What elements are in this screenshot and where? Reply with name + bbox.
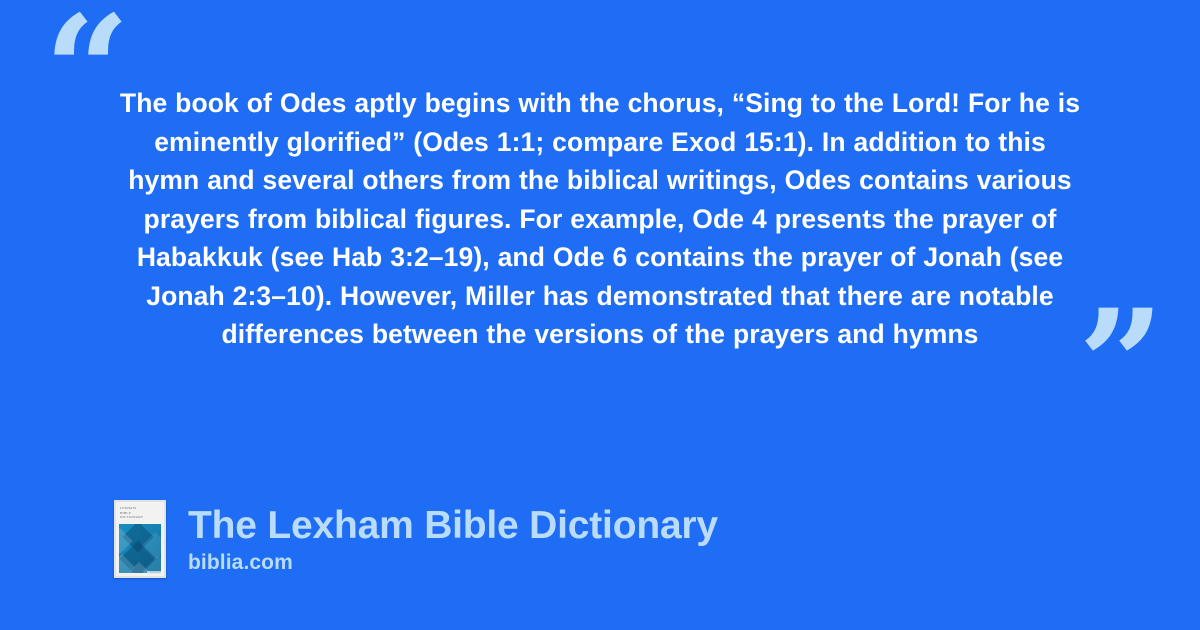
site-url: biblia.com xyxy=(188,550,718,576)
footer-text-group: The Lexham Bible Dictionary biblia.com xyxy=(188,500,718,576)
footer-branding: Lexham Bible Dictionary The Lexham Bible… xyxy=(114,500,718,578)
quote-text: The book of Odes aptly begins with the c… xyxy=(118,84,1082,354)
book-cover-title-text: Lexham Bible Dictionary xyxy=(120,506,160,520)
publication-title: The Lexham Bible Dictionary xyxy=(188,504,718,548)
quote-card: “ The book of Odes aptly begins with the… xyxy=(0,0,1200,630)
quote-block: The book of Odes aptly begins with the c… xyxy=(118,84,1082,354)
closing-quote-icon: ” xyxy=(1078,290,1162,440)
opening-quote-icon: “ xyxy=(44,0,128,146)
book-cover-thumbnail: Lexham Bible Dictionary xyxy=(114,500,166,578)
book-cover-artwork xyxy=(119,524,161,573)
book-cover-logo-icon xyxy=(147,571,161,574)
